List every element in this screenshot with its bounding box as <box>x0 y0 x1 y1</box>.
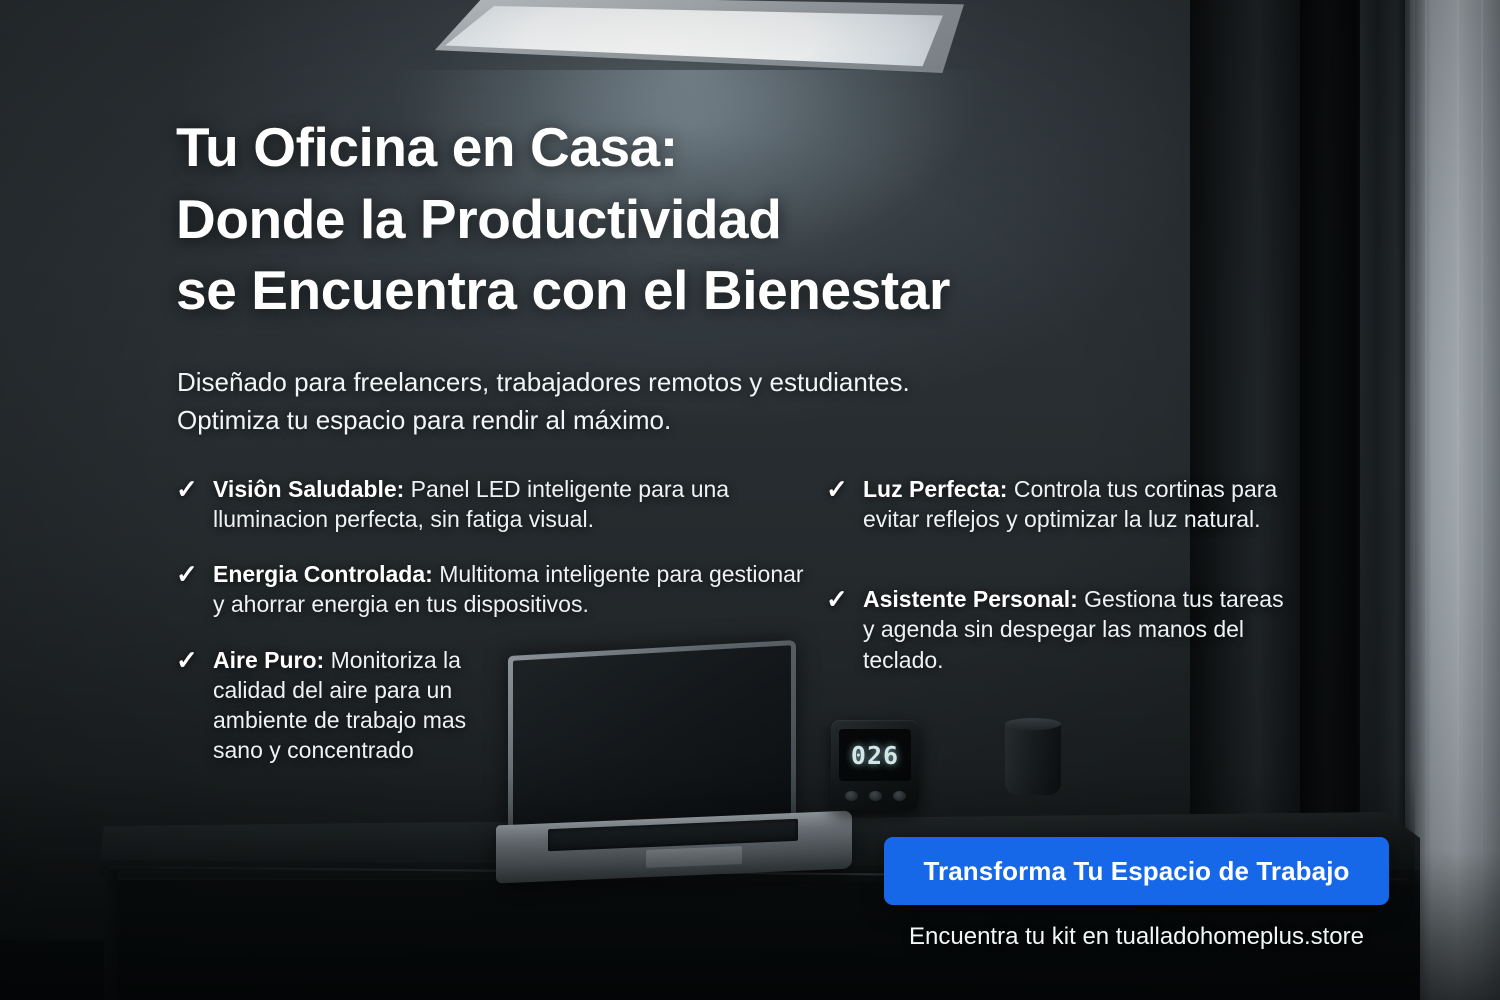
promo-text-overlay: Tu Oficina en Casa: Donde la Productivid… <box>0 0 1500 1000</box>
check-icon: ✓ <box>176 645 200 766</box>
headline-line-3: se Encuentra con el Bienestar <box>176 255 1176 327</box>
feature-title: Asistente Personal: <box>863 586 1078 612</box>
feature-text: Energia Controlada: Multitoma inteligent… <box>213 559 816 619</box>
feature-text: Asistente Personal: Gestiona tus tareas … <box>863 584 1296 674</box>
feature-title: Visiôn Saludable: <box>213 476 404 502</box>
feature-title: Aire Puro: <box>213 647 324 673</box>
feature-item-asistente-personal: ✓ Asistente Personal: Gestiona tus tarea… <box>826 584 1296 674</box>
cta-button[interactable]: Transforma Tu Espacio de Trabajo <box>884 837 1389 905</box>
feature-title: Energia Controlada: <box>213 561 433 587</box>
feature-text: Aire Puro: Monitoriza la calidad del air… <box>213 645 521 766</box>
subheadline-line-2: Optimiza tu espacio para rendir al máxim… <box>177 401 1077 439</box>
headline-line-1: Tu Oficina en Casa: <box>176 112 1176 184</box>
check-icon: ✓ <box>826 584 850 674</box>
feature-item-luz-perfecta: ✓ Luz Perfecta: Controla tus cortinas pa… <box>826 474 1316 534</box>
feature-column-left: ✓ Visiôn Saludable: Panel LED inteligent… <box>176 474 816 790</box>
subheadline: Diseñado para freelancers, trabajadores … <box>177 363 1077 440</box>
headline-line-2: Donde la Productividad <box>176 184 1176 256</box>
feature-title: Luz Perfecta: <box>863 476 1007 502</box>
check-icon: ✓ <box>176 559 200 619</box>
feature-item-energia-controlada: ✓ Energia Controlada: Multitoma intelige… <box>176 559 816 619</box>
feature-text: Luz Perfecta: Controla tus cortinas para… <box>863 474 1316 534</box>
store-url-line: Encuentra tu kit en tualladohomeplus.sto… <box>884 923 1389 951</box>
check-icon: ✓ <box>826 474 850 534</box>
feature-item-aire-puro: ✓ Aire Puro: Monitoriza la calidad del a… <box>176 645 521 766</box>
page-title: Tu Oficina en Casa: Donde la Productivid… <box>176 112 1176 327</box>
subheadline-line-1: Diseñado para freelancers, trabajadores … <box>177 363 1077 401</box>
feature-text: Visiôn Saludable: Panel LED inteligente … <box>213 474 816 534</box>
check-icon: ✓ <box>176 474 200 534</box>
cta-button-label: Transforma Tu Espacio de Trabajo <box>923 856 1349 887</box>
feature-column-right: ✓ Luz Perfecta: Controla tus cortinas pa… <box>826 474 1346 700</box>
feature-item-vision-saludable: ✓ Visiôn Saludable: Panel LED inteligent… <box>176 474 816 534</box>
